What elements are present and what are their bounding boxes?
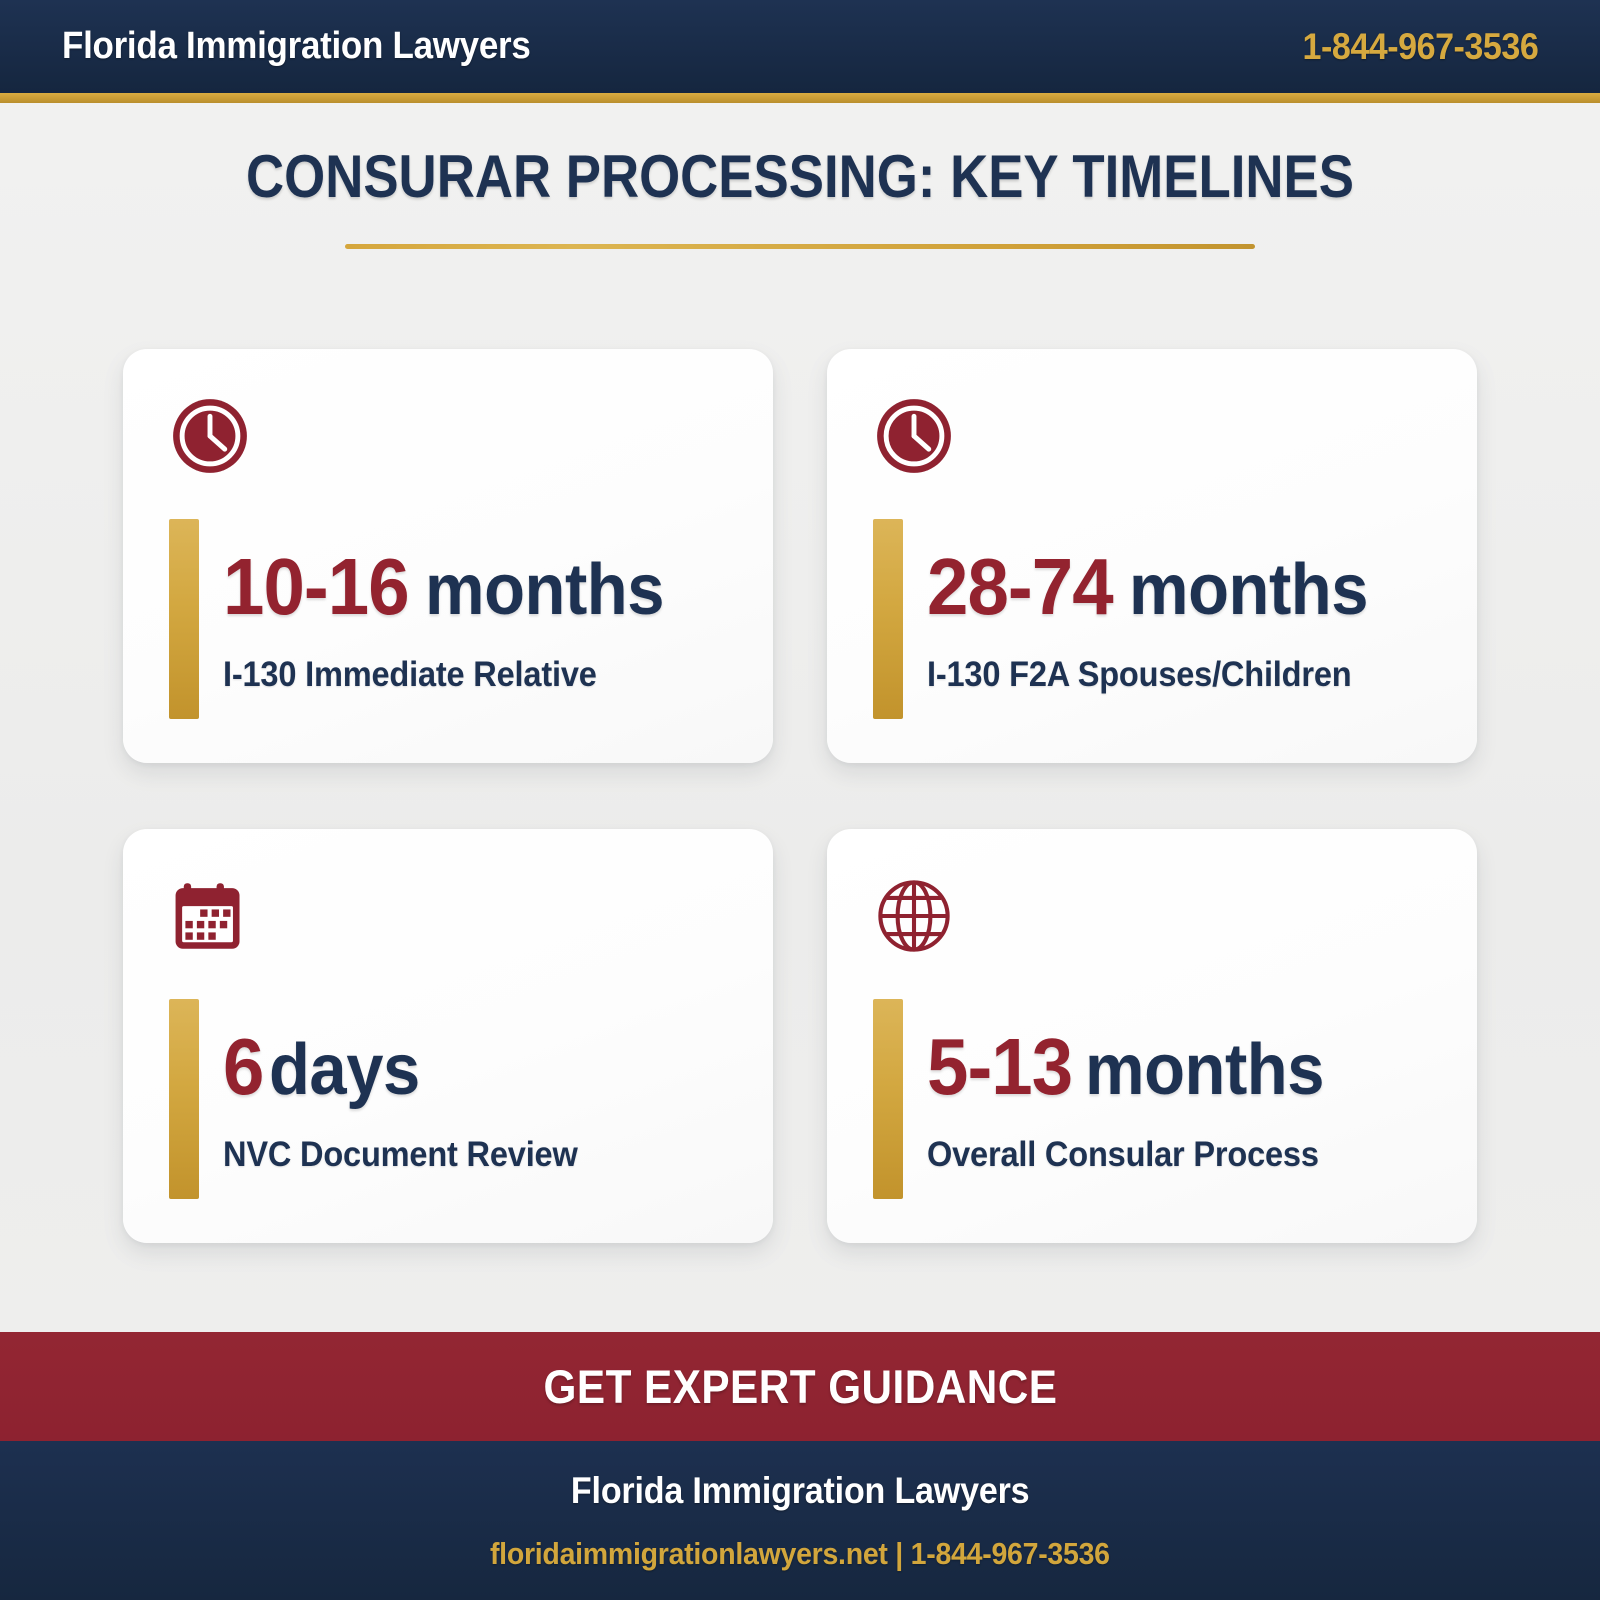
- card-body: 28-74months I-130 F2A Spouses/Children: [873, 519, 1431, 719]
- stat-label: I-130 Immediate Relative: [223, 655, 649, 695]
- infographic-page: Florida Immigration Lawyers 1-844-967-35…: [0, 0, 1600, 1600]
- stat-value: 10-16: [223, 547, 409, 627]
- title-block: CONSURAR PROCESSING: KEY TIMELINES: [0, 103, 1600, 249]
- gold-accent-bar: [169, 999, 199, 1199]
- timeline-card-grid: 10-16months I-130 Immediate Relative: [0, 349, 1600, 1243]
- stat-value: 28-74: [927, 547, 1113, 627]
- header-brand: Florida Immigration Lawyers: [62, 25, 531, 68]
- stat-label: Overall Consular Process: [927, 1135, 1319, 1175]
- header-phone-number[interactable]: 1-844-967-3536: [1302, 26, 1538, 68]
- timeline-card[interactable]: 28-74months I-130 F2A Spouses/Children: [827, 349, 1477, 763]
- globe-icon: [873, 875, 955, 957]
- clock-icon: [873, 395, 955, 477]
- stat-value: 5-13: [927, 1027, 1072, 1107]
- card-body: 5-13months Overall Consular Process: [873, 999, 1431, 1199]
- card-text: 5-13months Overall Consular Process: [927, 999, 1348, 1199]
- stat-label: NVC Document Review: [223, 1135, 578, 1175]
- card-text: 10-16months I-130 Immediate Relative: [223, 519, 682, 719]
- stat-unit: months: [425, 554, 664, 626]
- stat-line: 6days: [223, 1027, 604, 1107]
- stat-label: I-130 F2A Spouses/Children: [927, 655, 1353, 695]
- card-body: 10-16months I-130 Immediate Relative: [169, 519, 727, 719]
- gold-accent-bar: [873, 519, 903, 719]
- stat-unit: months: [1085, 1034, 1324, 1106]
- footer-contact[interactable]: floridaimmigrationlawyers.net | 1-844-96…: [490, 1536, 1110, 1572]
- stat-line: 5-13months: [927, 1027, 1348, 1107]
- gold-accent-bar: [169, 519, 199, 719]
- calendar-icon: [169, 875, 251, 957]
- card-text: 6days NVC Document Review: [223, 999, 604, 1199]
- stat-value: 6: [223, 1027, 263, 1107]
- page-title: CONSURAR PROCESSING: KEY TIMELINES: [96, 145, 1504, 208]
- card-body: 6days NVC Document Review: [169, 999, 727, 1199]
- timeline-card[interactable]: 6days NVC Document Review: [123, 829, 773, 1243]
- stat-line: 28-74months: [927, 547, 1386, 627]
- timeline-card[interactable]: 10-16months I-130 Immediate Relative: [123, 349, 773, 763]
- page-header: Florida Immigration Lawyers 1-844-967-35…: [0, 0, 1600, 93]
- stat-unit: months: [1129, 554, 1368, 626]
- footer-firm-name: Florida Immigration Lawyers: [571, 1470, 1029, 1512]
- page-footer: Florida Immigration Lawyers floridaimmig…: [0, 1441, 1600, 1600]
- stat-line: 10-16months: [223, 547, 682, 627]
- card-text: 28-74months I-130 F2A Spouses/Children: [927, 519, 1386, 719]
- timeline-card[interactable]: 5-13months Overall Consular Process: [827, 829, 1477, 1243]
- cta-banner[interactable]: GET EXPERT GUIDANCE: [0, 1332, 1600, 1441]
- title-underline: [345, 244, 1255, 249]
- cta-label: GET EXPERT GUIDANCE: [543, 1359, 1057, 1414]
- gold-accent-bar: [873, 999, 903, 1199]
- stat-unit: days: [269, 1034, 420, 1106]
- header-gold-rule: [0, 93, 1600, 103]
- clock-icon: [169, 395, 251, 477]
